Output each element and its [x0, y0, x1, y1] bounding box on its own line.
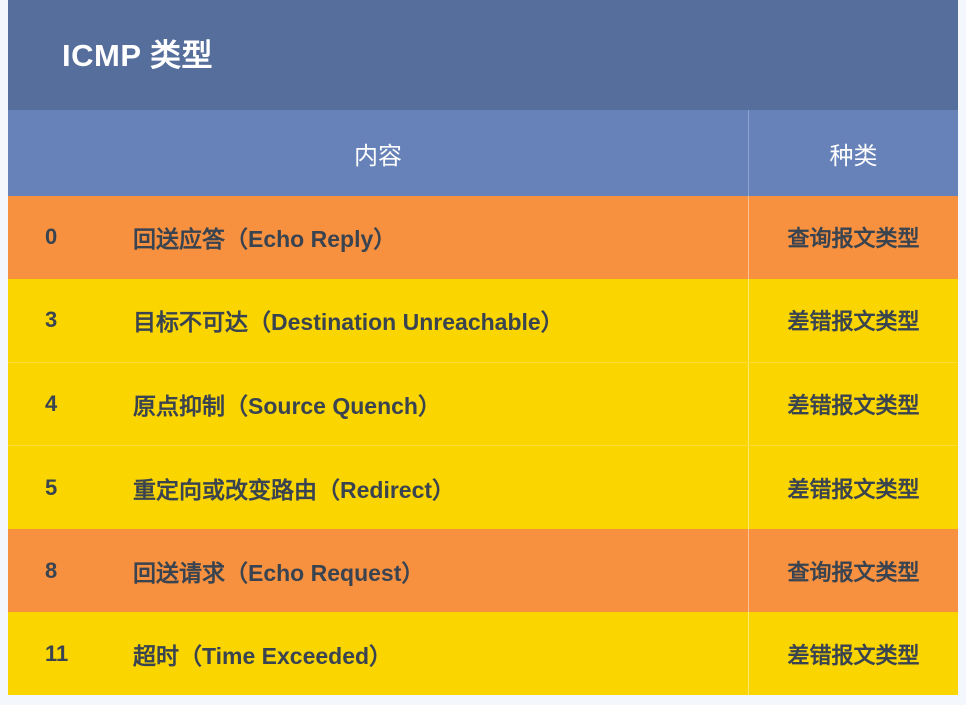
row-kind-cell: 差错报文类型: [748, 363, 958, 446]
row-content-cell: 11 超时（Time Exceeded）: [8, 612, 748, 695]
row-type-number: 8: [45, 558, 133, 584]
page-title: ICMP 类型: [62, 40, 213, 71]
table-column-header-row: 内容 种类: [8, 110, 958, 196]
table-row: 11 超时（Time Exceeded） 差错报文类型: [8, 612, 958, 695]
table-row: 0 回送应答（Echo Reply） 查询报文类型: [8, 196, 958, 279]
row-type-number: 4: [45, 391, 133, 417]
column-header-content: 内容: [8, 110, 748, 196]
row-kind-cell: 查询报文类型: [748, 196, 958, 279]
table-row: 3 目标不可达（Destination Unreachable） 差错报文类型: [8, 279, 958, 362]
row-kind-cell: 差错报文类型: [748, 279, 958, 362]
row-content-cell: 8 回送请求（Echo Request）: [8, 529, 748, 612]
table-body: 0 回送应答（Echo Reply） 查询报文类型 3 目标不可达（Destin…: [8, 196, 958, 695]
row-kind-cell: 差错报文类型: [748, 612, 958, 695]
column-header-content-label: 内容: [354, 136, 402, 171]
row-content-cell: 0 回送应答（Echo Reply）: [8, 196, 748, 279]
table-title-bar: ICMP 类型: [8, 0, 958, 110]
row-type-description: 回送应答（Echo Reply）: [133, 220, 396, 254]
table-row: 4 原点抑制（Source Quench） 差错报文类型: [8, 362, 958, 446]
row-content-cell: 3 目标不可达（Destination Unreachable）: [8, 279, 748, 362]
row-type-number: 3: [45, 307, 133, 333]
row-type-description: 回送请求（Echo Request）: [133, 554, 424, 588]
row-kind-cell: 查询报文类型: [748, 529, 958, 612]
row-type-number: 0: [45, 224, 133, 250]
row-content-cell: 4 原点抑制（Source Quench）: [8, 363, 748, 446]
icmp-type-table-card: ICMP 类型 内容 种类 0 回送应答（Echo Reply） 查询报文类型 …: [8, 0, 958, 695]
row-type-description: 重定向或改变路由（Redirect）: [133, 471, 455, 505]
column-header-kind: 种类: [748, 110, 958, 196]
row-type-description: 目标不可达（Destination Unreachable）: [133, 303, 564, 337]
row-type-number: 5: [45, 475, 133, 501]
row-type-number: 11: [45, 641, 133, 667]
table-row: 8 回送请求（Echo Request） 查询报文类型: [8, 529, 958, 612]
row-type-description: 超时（Time Exceeded）: [133, 637, 392, 671]
row-kind-cell: 差错报文类型: [748, 446, 958, 529]
row-content-cell: 5 重定向或改变路由（Redirect）: [8, 446, 748, 529]
row-type-description: 原点抑制（Source Quench）: [133, 387, 441, 421]
table-row: 5 重定向或改变路由（Redirect） 差错报文类型: [8, 445, 958, 529]
column-header-kind-label: 种类: [830, 136, 878, 171]
